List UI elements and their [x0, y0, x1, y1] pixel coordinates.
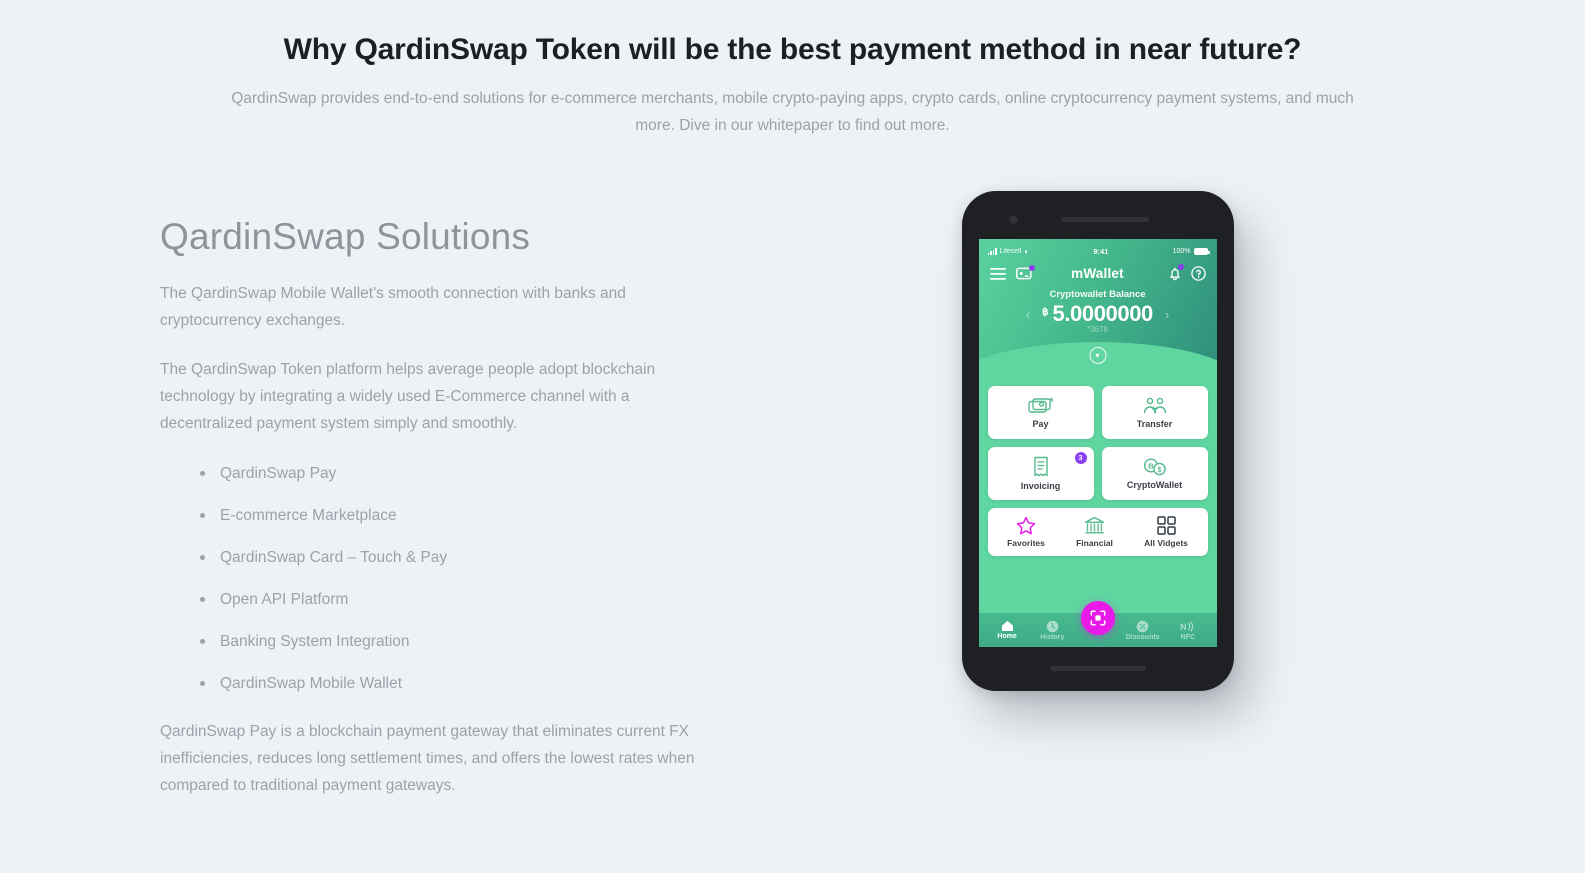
svg-text:N: N — [1180, 622, 1187, 632]
front-camera-icon — [1009, 215, 1018, 224]
scan-qr-icon[interactable] — [1081, 601, 1115, 635]
phone-mockup-column: Lifecell ◐ 9:41 100% — [780, 217, 1425, 691]
tile-label: Transfer — [1137, 419, 1173, 429]
hero-section: Why QardinSwap Token will be the best pa… — [0, 0, 1585, 139]
svg-text:$: $ — [1157, 467, 1161, 474]
tab-label: Discounts — [1126, 634, 1160, 641]
card-icon[interactable] — [1016, 267, 1033, 280]
tile-cryptowallet[interactable]: B $ CryptoWallet — [1102, 447, 1208, 500]
phone-screen: Lifecell ◐ 9:41 100% — [979, 239, 1217, 647]
balance-next-arrow[interactable]: › — [1157, 307, 1177, 322]
invoicing-badge: 3 — [1075, 452, 1087, 464]
tile-label: Pay — [1032, 419, 1048, 429]
tab-nfc[interactable]: N NFC — [1166, 620, 1210, 641]
card-notification-dot — [1029, 265, 1035, 271]
main-content: QardinSwap Solutions The QardinSwap Mobi… — [0, 217, 1585, 823]
nfc-icon: N — [1180, 620, 1195, 633]
section-heading: QardinSwap Solutions — [160, 217, 780, 258]
home-icon — [1001, 620, 1014, 632]
balance-prev-arrow[interactable]: ‹ — [1018, 307, 1038, 322]
bank-icon — [1084, 516, 1105, 535]
tile-label: Invoicing — [1021, 481, 1061, 491]
widget-label: Financial — [1076, 538, 1113, 548]
receipt-icon — [1031, 456, 1051, 478]
app-navbar: mWallet — [979, 259, 1217, 281]
battery-icon — [1194, 248, 1208, 255]
tab-label: Home — [997, 633, 1016, 640]
currency-symbol: ฿ — [1042, 307, 1048, 318]
app-header: Lifecell ◐ 9:41 100% — [979, 239, 1217, 364]
wifi-icon: ◐ — [1024, 248, 1029, 256]
list-item: QardinSwap Card – Touch & Pay — [200, 546, 780, 570]
tile-label: CryptoWallet — [1127, 480, 1182, 490]
grid-icon — [1157, 516, 1176, 535]
hamburger-menu-icon[interactable] — [990, 268, 1006, 280]
chevron-down-icon[interactable]: ▾ — [1089, 347, 1106, 364]
account-number-label: *3678 — [979, 325, 1217, 334]
widget-bar: Favorites Financia — [988, 508, 1208, 556]
solutions-feature-list: QardinSwap Pay E-commerce Marketplace Qa… — [160, 462, 780, 696]
discount-icon — [1136, 620, 1149, 633]
balance-label: Cryptowallet Balance — [979, 289, 1217, 300]
people-transfer-icon — [1142, 397, 1168, 416]
star-icon — [1016, 516, 1036, 535]
tab-discounts[interactable]: Discounts — [1121, 620, 1165, 641]
clock-icon — [1046, 620, 1059, 633]
tile-pay[interactable]: Pay — [988, 386, 1094, 439]
page-title: Why QardinSwap Token will be the best pa… — [0, 30, 1585, 69]
help-icon[interactable] — [1191, 266, 1206, 281]
tab-label: NFC — [1181, 634, 1195, 641]
list-item: QardinSwap Mobile Wallet — [200, 672, 780, 696]
carrier-label: Lifecell — [1000, 248, 1022, 255]
list-item: E-commerce Marketplace — [200, 504, 780, 528]
widget-favorites[interactable]: Favorites — [1007, 516, 1045, 548]
solutions-paragraph-3: QardinSwap Pay is a blockchain payment g… — [160, 718, 720, 799]
status-clock: 9:41 — [1093, 247, 1108, 256]
status-bar: Lifecell ◐ 9:41 100% — [979, 244, 1217, 259]
banknote-icon — [1028, 397, 1054, 416]
phone-device-frame: Lifecell ◐ 9:41 100% — [962, 191, 1234, 691]
page-subtitle: QardinSwap provides end-to-end solutions… — [218, 85, 1368, 139]
earpiece-speaker — [1061, 217, 1149, 222]
widget-label: All Vidgets — [1144, 538, 1188, 548]
solutions-paragraph-1: The QardinSwap Mobile Wallet's smooth co… — [160, 280, 720, 334]
bottom-speaker — [1050, 666, 1146, 671]
tab-home[interactable]: Home — [985, 620, 1029, 640]
list-item: QardinSwap Pay — [200, 462, 780, 486]
widget-all-vidgets[interactable]: All Vidgets — [1144, 516, 1188, 548]
solutions-column: QardinSwap Solutions The QardinSwap Mobi… — [160, 217, 780, 823]
bell-icon[interactable] — [1168, 266, 1182, 281]
signal-bars-icon — [988, 248, 997, 255]
widget-financial[interactable]: Financial — [1076, 516, 1113, 548]
coins-icon: B $ — [1142, 457, 1168, 477]
list-item: Open API Platform — [200, 588, 780, 612]
tile-transfer[interactable]: Transfer — [1102, 386, 1208, 439]
widget-label: Favorites — [1007, 538, 1045, 548]
tab-history[interactable]: History — [1030, 620, 1074, 641]
battery-percent-label: 100% — [1173, 248, 1191, 255]
list-item: Banking System Integration — [200, 630, 780, 654]
tile-invoicing[interactable]: 3 Invoicing — [988, 447, 1094, 500]
quick-action-grid: Pay — [988, 386, 1208, 500]
solutions-paragraph-2: The QardinSwap Token platform helps aver… — [160, 356, 720, 437]
bell-notification-dot — [1178, 264, 1184, 270]
balance-block: Cryptowallet Balance ‹ ฿ 5.0000000 › *36… — [979, 289, 1217, 334]
tab-label: History — [1040, 634, 1064, 641]
balance-amount: 5.0000000 — [1052, 301, 1152, 327]
